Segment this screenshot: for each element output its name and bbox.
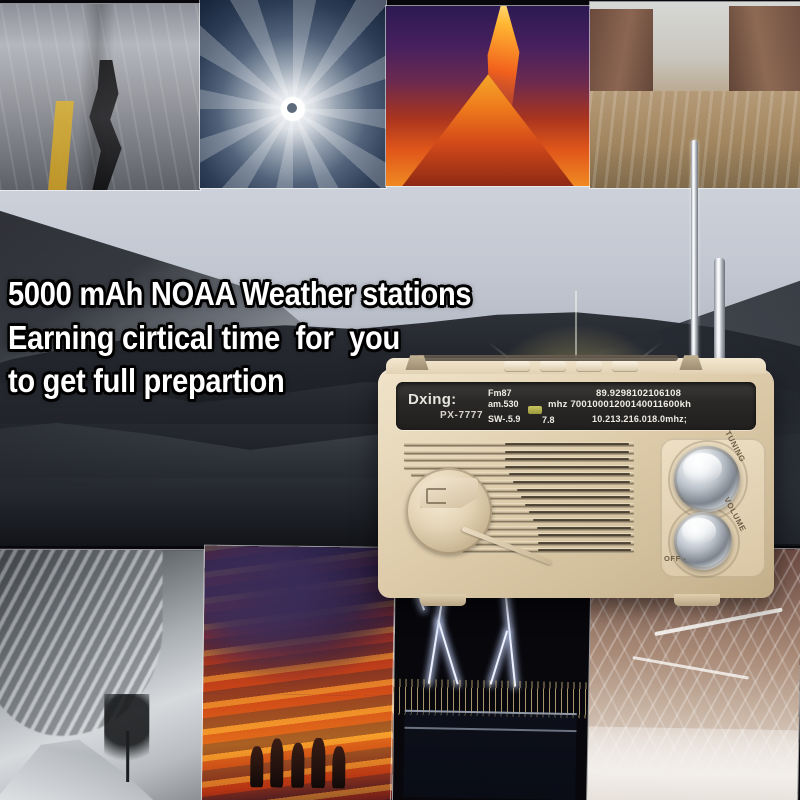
lone-tree — [104, 694, 149, 782]
grille-slat-shadow — [538, 542, 631, 544]
top-photo-strip — [0, 0, 800, 192]
display-fm-band: Fm87 — [488, 388, 512, 398]
display-bottom-row: 10.213.216.018.0mhz; — [592, 414, 687, 424]
radio-foot-right — [674, 594, 720, 606]
product-banner: 5000 mAh NOAA Weather stations Earning c… — [0, 0, 800, 800]
grille-slat-shadow — [537, 527, 631, 529]
balcony-railing — [403, 710, 577, 800]
top-button-4[interactable] — [612, 361, 638, 372]
grille-slat-shadow — [533, 519, 631, 521]
grille-slat-shadow — [521, 496, 630, 498]
snow-ground — [587, 726, 798, 800]
grille-slat-shadow — [538, 549, 631, 551]
photo-earthquake-cracked-road — [0, 4, 200, 190]
smoke-plumes — [203, 546, 395, 697]
model-label: PX-7777 — [440, 410, 483, 421]
firefighter — [332, 746, 346, 788]
radio-body: Dxing: PX-7777 Fm87 am.530 SW-.5.9 7.8 8… — [378, 368, 774, 598]
lightning-bolt — [437, 619, 458, 683]
radio-foot-left — [420, 594, 466, 606]
grille-slat — [404, 450, 634, 455]
grille-slat — [404, 442, 634, 447]
off-label: OFF - — [664, 554, 687, 563]
knob-panel: TUNING VOLUME OFF - — [660, 438, 766, 578]
volcano-cone — [402, 74, 573, 186]
photo-volcano-eruption — [386, 6, 590, 186]
grille-slat-shadow — [505, 458, 629, 460]
grille-slat-shadow — [505, 443, 629, 445]
photo-tornado-supercell — [0, 550, 204, 800]
display-small-number: 7.8 — [542, 415, 555, 425]
firefighter — [291, 742, 305, 787]
grille-slat-shadow — [505, 451, 629, 453]
headline-line-2: Earning cirtical time for you — [8, 316, 483, 360]
grille-slat-shadow — [517, 489, 630, 491]
grille-slat — [404, 457, 634, 462]
grille-slat-shadow — [513, 481, 630, 483]
hurricane-spiral-bands — [200, 0, 386, 188]
top-button-3[interactable] — [576, 361, 602, 372]
firefighter — [270, 739, 284, 788]
display-sw-band: SW-.5.9 — [488, 414, 520, 424]
grille-slat-shadow — [538, 534, 631, 536]
grille-slat-shadow — [529, 511, 631, 513]
grille-slat-shadow — [505, 466, 629, 468]
firefighter — [250, 746, 264, 787]
grille-slat-shadow — [509, 473, 629, 475]
telescopic-antenna[interactable] — [691, 140, 698, 376]
lightning-bolt — [489, 630, 507, 684]
display-frequency-top: 89.9298102106108 — [596, 388, 681, 399]
emergency-radio[interactable]: Dxing: PX-7777 Fm87 am.530 SW-.5.9 7.8 8… — [378, 368, 774, 598]
photo-wildfire-firefighters — [202, 546, 395, 800]
crank-handle[interactable] — [420, 478, 478, 508]
grille-slat-shadow — [525, 504, 630, 506]
hand-crank-dial[interactable] — [406, 468, 492, 554]
dial-marker — [528, 406, 542, 414]
brand-label: Dxing: — [408, 391, 456, 408]
headline-line-1: 5000 mAh NOAA Weather stations — [8, 272, 483, 316]
display-mhz-row: mhz 70010001200140011600kh — [548, 399, 691, 410]
firefighter-silhouettes — [248, 730, 351, 788]
top-button-2[interactable] — [540, 361, 566, 372]
photo-hurricane-satellite — [200, 0, 386, 188]
firefighter — [311, 738, 325, 788]
display-am-band: am.530 — [488, 399, 519, 409]
grille-slat — [462, 541, 634, 546]
grille-slat — [462, 548, 634, 553]
radio-display-panel: Dxing: PX-7777 Fm87 am.530 SW-.5.9 7.8 8… — [396, 382, 756, 430]
top-button-1[interactable] — [504, 361, 530, 372]
